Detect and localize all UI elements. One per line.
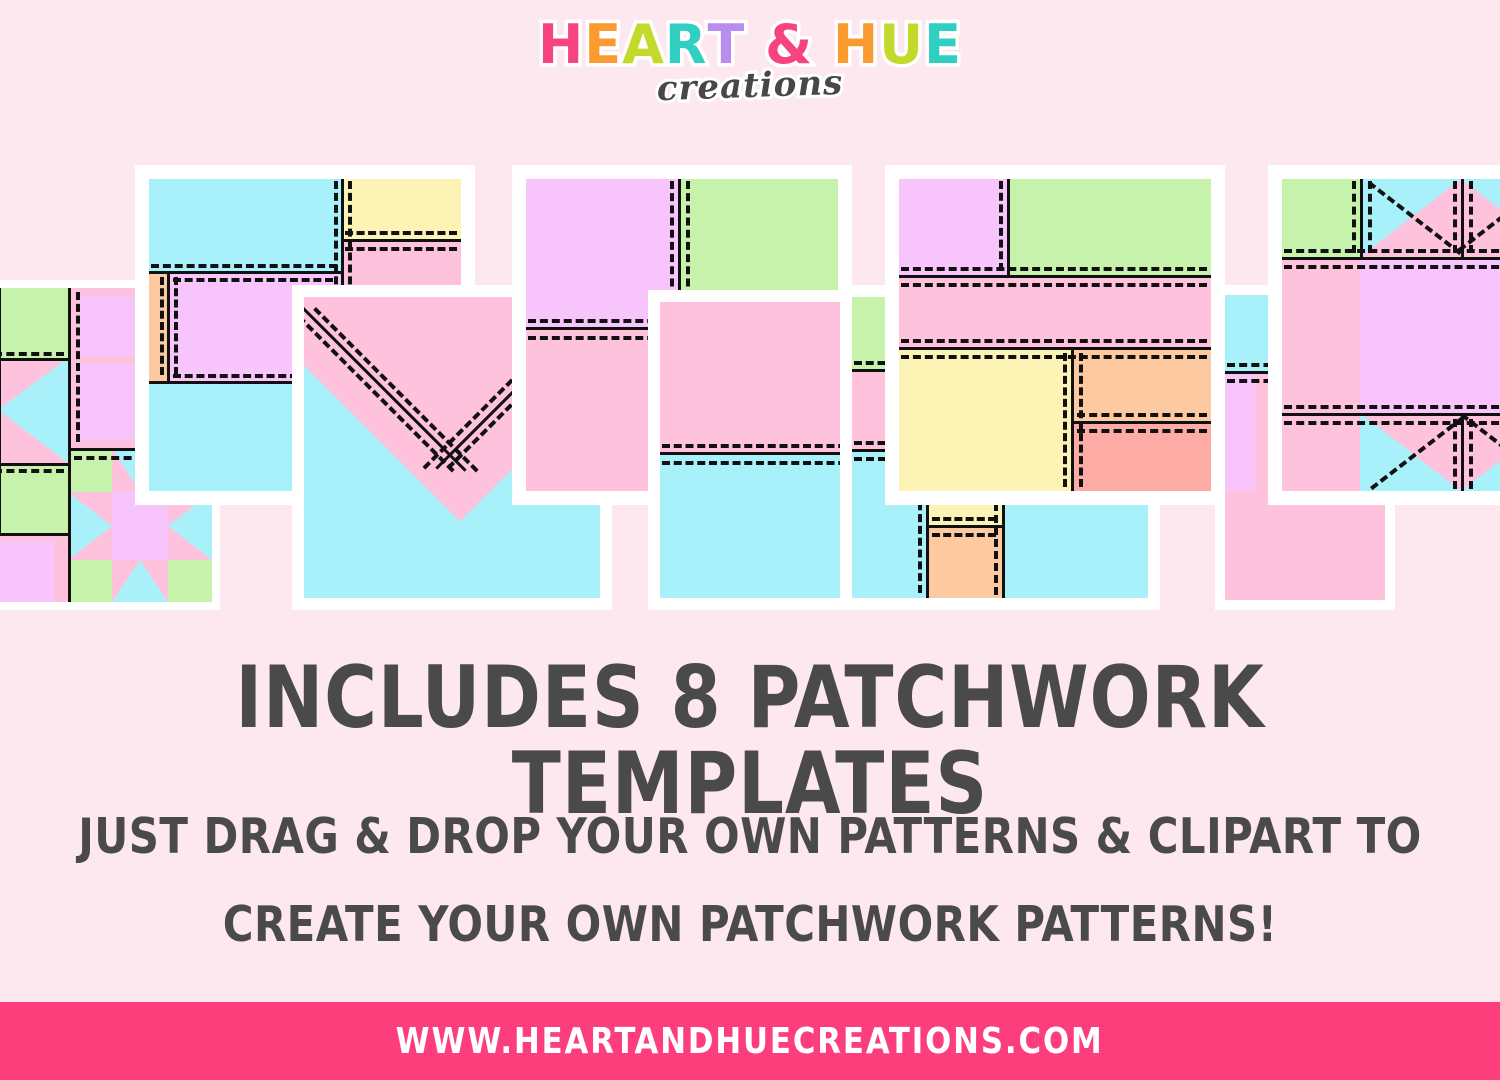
patch [1282,179,1360,257]
stitch-line [901,283,1207,287]
stitch-line [1453,181,1457,253]
stitch-line [174,277,178,375]
seam-line [1282,257,1500,260]
stitch-line [0,352,64,356]
brand-letter-1: E [584,18,622,72]
patch [168,560,212,602]
stitch-line [76,292,80,442]
stitch-line [901,267,1207,271]
stitch-line [1284,249,1500,253]
patch [149,179,341,271]
stitch-line [345,247,457,251]
seam-line [341,239,461,242]
patch [0,463,68,533]
seam-line [1360,179,1363,257]
patch [68,448,112,492]
patch [80,296,136,356]
patch [899,179,1007,275]
poster-canvas: HEART & HUE creations [0,0,1500,1080]
seam-line [1071,347,1074,491]
triangle-patch [0,358,68,463]
patch [80,364,136,440]
nine-patch-block [899,179,1211,491]
seam-line [899,275,1211,278]
stitch-line [1284,405,1500,409]
stitch-line [1453,419,1457,489]
patchwork-template-gallery [0,150,1500,630]
stitch-line [151,264,337,268]
patch [341,179,461,239]
seam-line [899,347,1211,350]
patch [1225,371,1255,491]
stitch-line [932,517,996,521]
seam-line [0,463,68,466]
seam-line [0,288,1,533]
stitch-line [0,469,64,473]
brand-letter-2: A [622,18,665,72]
sawtooth-star-block [1282,179,1500,491]
footer-bar: WWW.HEARTANDHUECREATIONS.COM [0,1002,1500,1080]
patch [1007,179,1211,275]
patch [0,541,54,602]
stitch-line [173,278,333,282]
patch [899,347,1071,491]
seam-line [167,271,170,381]
stitch-line [999,181,1003,271]
brand-letter-3: R [665,18,708,72]
seam-line [149,271,341,274]
stitch-line [345,231,457,235]
brand-letter-4: T [707,18,745,72]
quilt-card-sawtooth-star[interactable] [1268,165,1500,505]
patch [149,271,167,381]
stitch-line [1368,181,1372,253]
stitch-line [1077,429,1207,433]
patch [1282,257,1360,283]
stitch-line [901,355,1207,359]
brand-letter-0: H [538,18,584,72]
patch [660,452,860,598]
stitch-line [1079,353,1083,487]
stitch-line [1469,419,1473,489]
patch [0,288,68,358]
seam-line [926,525,1002,528]
stitch-line [1077,413,1207,417]
seam-line [1071,421,1211,424]
seam-line [1007,179,1010,275]
quilt-card-nine-patch[interactable] [885,165,1225,505]
stitch-line [1284,265,1500,269]
stitch-line [901,339,1207,343]
triangle-patch [68,492,112,560]
brand-letter-5 [745,18,765,72]
seam-line [68,288,71,602]
page-subheadline-line-2: CREATE YOUR OWN PATCHWORK PATTERNS! [38,900,1463,949]
patch [68,560,112,602]
website-url[interactable]: WWW.HEARTANDHUECREATIONS.COM [396,1021,1104,1062]
seam-line [0,358,68,361]
triangle-patch [112,560,168,602]
page-headline: INCLUDES 8 PATCHWORK TEMPLATES [53,655,1448,827]
stitch-line [1352,181,1356,253]
stitch-line [932,533,996,537]
stitch-line [160,277,164,375]
seam-line [0,533,68,536]
page-subheadline-line-1: JUST DRAG & DROP YOUR OWN PATTERNS & CLI… [38,812,1463,861]
brand-logo: HEART & HUE creations [0,18,1500,106]
patch [1360,257,1500,413]
stitch-line [1063,353,1067,487]
